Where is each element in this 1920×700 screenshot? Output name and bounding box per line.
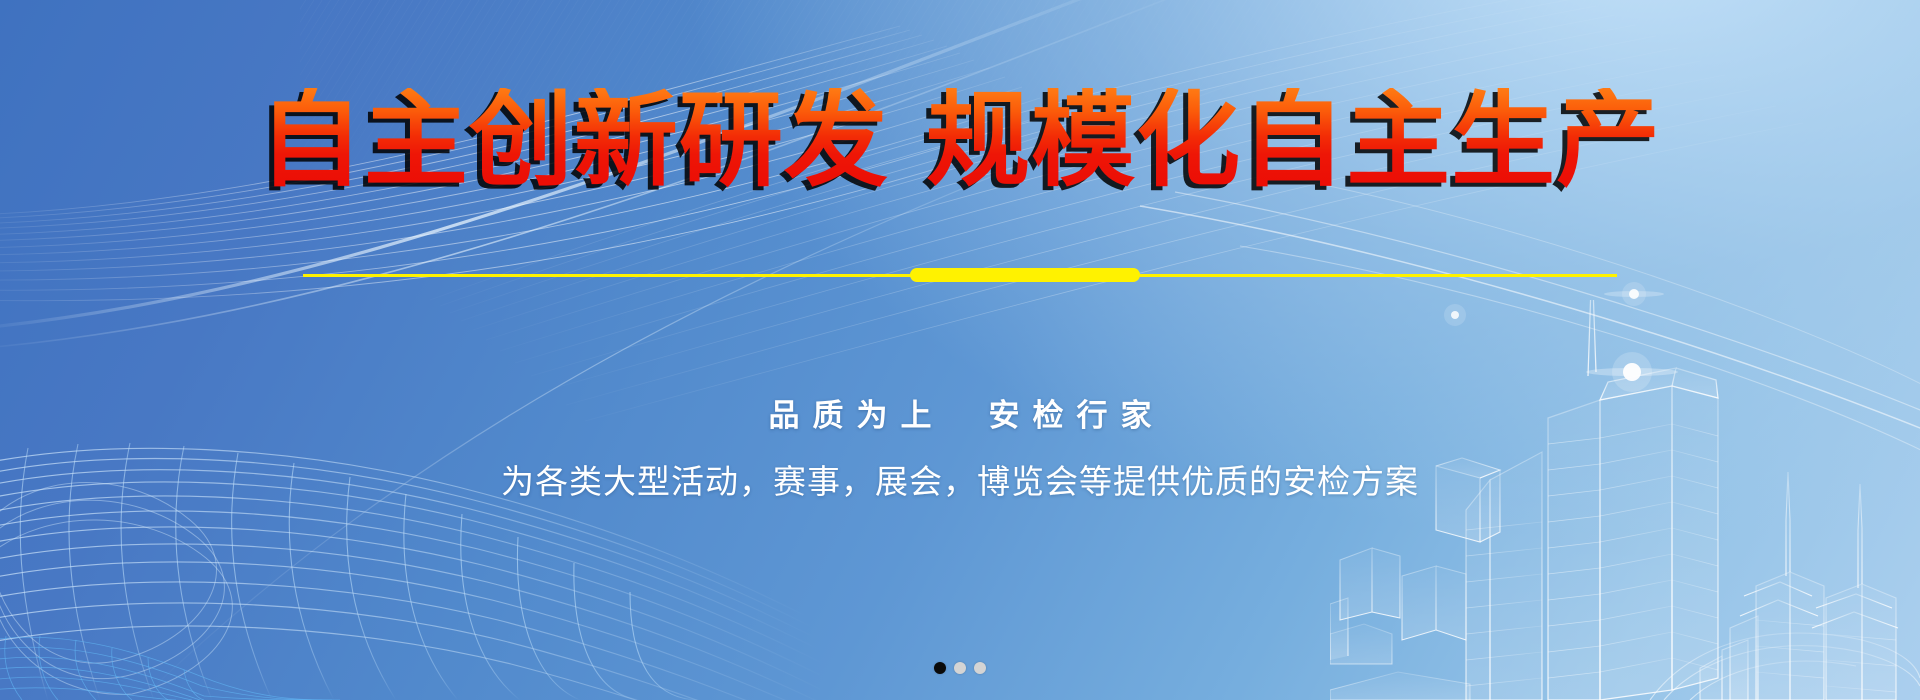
carousel-dot-3[interactable] [974,662,986,674]
subtitle-primary: 品质为上 安检行家 [0,390,1920,435]
carousel-indicators [0,662,1920,674]
divider-center-bar [910,268,1140,282]
subtitle-secondary: 为各类大型活动，赛事，展会，博览会等提供优质的安检方案 [0,455,1920,503]
carousel-dot-1[interactable] [934,662,946,674]
page-title: 自主创新研发 规模化自主生产 [0,88,1920,192]
carousel-dot-2[interactable] [954,662,966,674]
title-divider [303,268,1617,282]
banner-content: 自主创新研发 规模化自主生产 品质为上 安检行家 为各类大型活动，赛事，展会，博… [0,0,1920,700]
hero-banner: 自主创新研发 规模化自主生产 品质为上 安检行家 为各类大型活动，赛事，展会，博… [0,0,1920,700]
